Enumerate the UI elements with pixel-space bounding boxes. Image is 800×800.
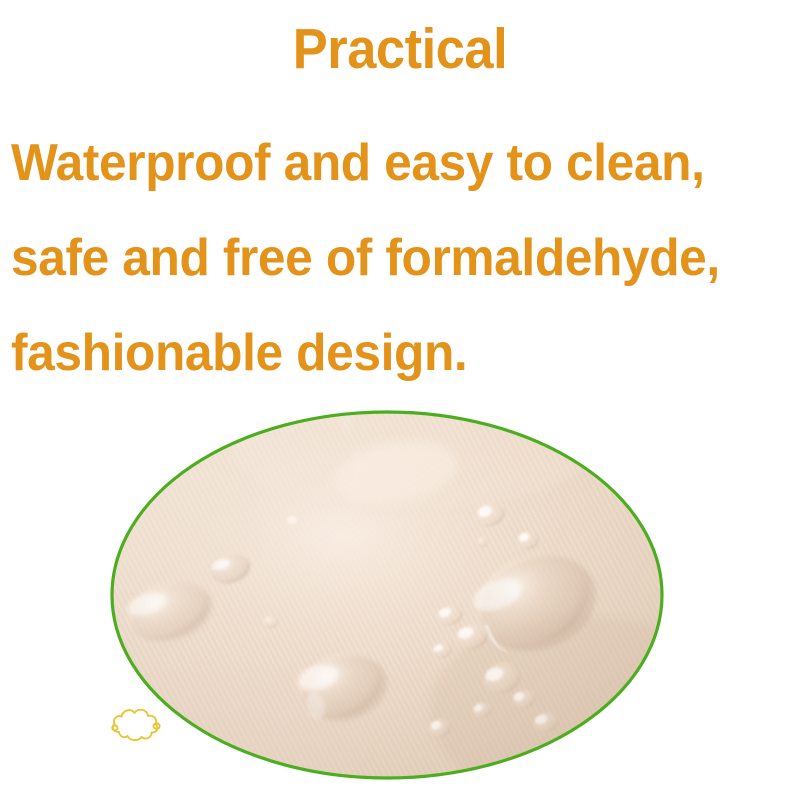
waterproof-fabric-photo xyxy=(110,410,664,780)
feature-description: Waterproof and easy to clean, safe and f… xyxy=(11,116,800,401)
page-title: Practical xyxy=(32,16,768,82)
poster-root: Practical Waterproof and easy to clean, … xyxy=(0,0,800,800)
description-line-2: safe and free of formaldehyde, xyxy=(11,211,765,306)
cloud-icon-svg xyxy=(106,700,166,750)
cloud-icon xyxy=(106,700,166,750)
description-line-1: Waterproof and easy to clean, xyxy=(11,116,765,211)
description-line-3: fashionable design. xyxy=(11,306,765,401)
fabric-photo-svg xyxy=(110,410,664,780)
